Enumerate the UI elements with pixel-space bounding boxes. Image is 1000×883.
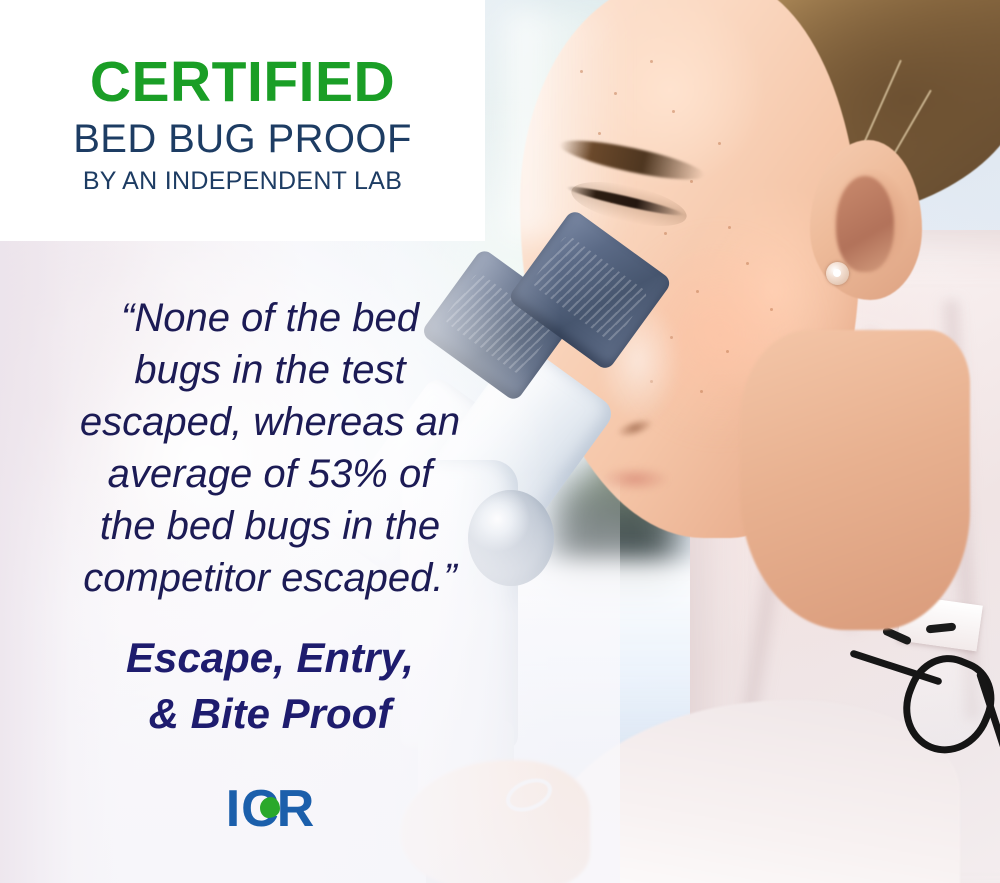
icr-logo-lockup: I C R — [226, 783, 315, 835]
quote-line: escaped, whereas an — [40, 396, 500, 448]
tagline-line: & Bite Proof — [40, 686, 500, 742]
product-tagline: Escape, Entry, & Bite Proof — [40, 630, 500, 742]
earring — [826, 262, 849, 285]
icr-logo-leaf-icon — [260, 797, 280, 818]
neck — [740, 330, 970, 630]
icr-logo-letter-i: I — [226, 783, 240, 835]
quote-line: competitor escaped.” — [40, 552, 500, 604]
bed-bug-proof-subheadline: BED BUG PROOF — [73, 119, 412, 159]
certified-headline: CERTIFIED — [90, 54, 395, 111]
independent-lab-caption: BY AN INDEPENDENT LAB — [83, 169, 402, 194]
quote-line: the bed bugs in the — [40, 500, 500, 552]
quote-line: bugs in the test — [40, 344, 500, 396]
quote-line: average of 53% of — [40, 448, 500, 500]
inner-ear — [836, 176, 894, 272]
eyeglasses-icon — [900, 618, 1000, 778]
icr-logo-letter-r: R — [277, 783, 315, 835]
certification-header-content: CERTIFIED BED BUG PROOF BY AN INDEPENDEN… — [0, 0, 485, 241]
quote-line: “None of the bed — [40, 292, 500, 344]
eyeglasses-bridge — [926, 622, 957, 633]
poster-canvas: CERTIFIED BED BUG PROOF BY AN INDEPENDEN… — [0, 0, 1000, 883]
certification-header-box: CERTIFIED BED BUG PROOF BY AN INDEPENDEN… — [0, 0, 485, 241]
eyeglasses-lens — [889, 643, 1000, 767]
lab-test-quote: “None of the bed bugs in the test escape… — [40, 292, 500, 604]
icr-logo[interactable]: I C R — [40, 779, 500, 839]
tagline-line: Escape, Entry, — [40, 630, 500, 686]
